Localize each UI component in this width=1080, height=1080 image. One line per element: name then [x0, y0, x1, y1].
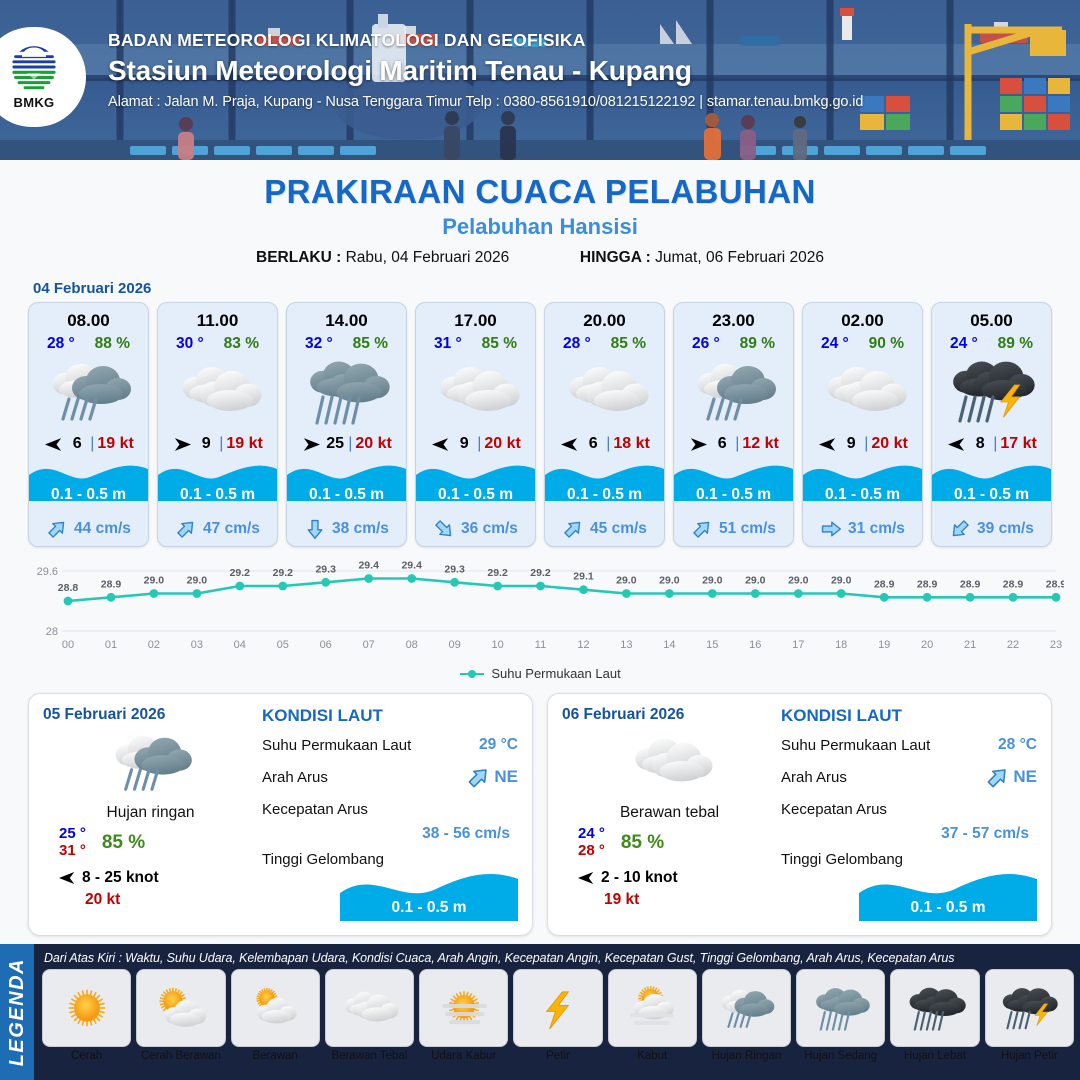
current-speed-value: 38 - 56 cm/s	[262, 825, 518, 843]
card-temperature: 28 °	[47, 335, 75, 353]
svg-text:15: 15	[706, 639, 718, 651]
legend-item-label: Berawan	[252, 1050, 297, 1062]
current-speed-label: Kecepatan Arus	[262, 801, 368, 818]
card-wind-separator: |	[477, 435, 481, 453]
card-humidity: 85 %	[611, 335, 646, 353]
page-header: BMKG BADAN METEOROLOGI KLIMATOLOGI DAN G…	[0, 0, 1080, 160]
card-wave: 0.1 - 0.5 m	[416, 459, 535, 511]
svg-text:28: 28	[46, 626, 58, 638]
svg-text:29.0: 29.0	[659, 575, 680, 587]
legend-item: Udara Kabur	[419, 969, 508, 1062]
sea-sst-row: Suhu Permukaan Laut 29 °C	[262, 729, 518, 761]
card-time: 14.00	[287, 303, 406, 331]
daily-temp-max: 31 °	[59, 843, 86, 860]
legend-item-label: Berawan Tebal	[331, 1050, 407, 1062]
daily-temp-min: 25 °	[59, 826, 86, 843]
svg-text:09: 09	[448, 639, 460, 651]
card-current-speed: 38 cm/s	[332, 520, 389, 538]
sea-sst-row: Suhu Permukaan Laut 28 °C	[781, 729, 1037, 761]
card-temperature: 31 °	[434, 335, 462, 353]
sst-label: Suhu Permukaan Laut	[262, 737, 411, 754]
card-humidity: 89 %	[998, 335, 1033, 353]
wind-direction-arrow	[817, 436, 838, 453]
daily-condition: Hujan ringan	[107, 804, 195, 822]
card-current: 36 cm/s	[416, 511, 535, 546]
hourly-forecast-row: 08.00 28 ° 88 % 6 | 19 kt 0.1	[0, 302, 1080, 547]
svg-text:21: 21	[964, 639, 976, 651]
hourly-forecast-card: 17.00 31 ° 85 % 9 | 20 kt 0.1	[415, 302, 536, 547]
card-wind-speed: 9	[196, 435, 216, 453]
svg-text:14: 14	[663, 639, 675, 651]
current-direction-arrow	[46, 518, 68, 540]
wind-direction-arrow	[172, 436, 193, 453]
legend-icon-hujan-petir	[985, 969, 1074, 1047]
hourly-forecast-card: 23.00 26 ° 89 % 6 | 12 kt 0.1	[673, 302, 794, 547]
legend-item: Kabut	[608, 969, 697, 1062]
current-direction-arrow	[466, 765, 491, 790]
daily-forecast-panel: 06 Februari 2026 Berawan tebal 24 ° 28 °…	[547, 693, 1052, 936]
svg-text:29.0: 29.0	[187, 575, 208, 587]
current-speed-value: 37 - 57 cm/s	[781, 825, 1037, 843]
svg-text:29.0: 29.0	[831, 575, 852, 587]
svg-text:02: 02	[148, 639, 160, 651]
wind-direction-arrow	[430, 436, 451, 453]
card-wind-separator: |	[90, 435, 94, 453]
svg-text:04: 04	[234, 639, 246, 651]
wind-direction-arrow	[301, 436, 322, 453]
svg-text:03: 03	[191, 639, 203, 651]
current-direction-arrow	[562, 518, 584, 540]
legend-icon-udara-kabur	[419, 969, 508, 1047]
current-direction-arrow	[433, 518, 455, 540]
legend-item: Hujan Petir	[985, 969, 1074, 1062]
svg-text:29.4: 29.4	[358, 560, 379, 572]
sea-current-direction-row: Arah Arus NE	[262, 761, 518, 793]
card-wave-height: 0.1 - 0.5 m	[545, 486, 664, 504]
daily-forecast-panel: 05 Februari 2026 Hujan ringan 25 ° 31 ° …	[28, 693, 533, 936]
svg-text:28.9: 28.9	[917, 578, 938, 590]
svg-text:28.9: 28.9	[1046, 578, 1064, 590]
hourly-forecast-card: 11.00 30 ° 83 % 9 | 19 kt 0.1	[157, 302, 278, 547]
sea-current-speed-row: Kecepatan Arus	[262, 793, 518, 825]
svg-text:29.6: 29.6	[37, 566, 58, 578]
svg-text:29.3: 29.3	[315, 563, 336, 575]
hourly-forecast-card: 02.00 24 ° 90 % 9 | 20 kt 0.1	[802, 302, 923, 547]
weather-icon-berawan-tebal	[416, 353, 535, 429]
card-temp-humidity: 24 ° 90 %	[803, 331, 922, 353]
legend-bar: LEGENDA Dari Atas Kiri : Waktu, Suhu Uda…	[0, 944, 1080, 1080]
daily-date: 06 Februari 2026	[562, 706, 684, 724]
bmkg-logo-text: BMKG	[14, 95, 55, 110]
card-wave-height: 0.1 - 0.5 m	[803, 486, 922, 504]
card-temp-humidity: 28 ° 88 %	[29, 331, 148, 353]
card-wave-height: 0.1 - 0.5 m	[674, 486, 793, 504]
card-gust: 20 kt	[355, 435, 391, 453]
valid-from-label: BERLAKU :	[256, 249, 341, 266]
svg-text:18: 18	[835, 639, 847, 651]
card-wave: 0.1 - 0.5 m	[545, 459, 664, 511]
legend-item: Cerah Berawan	[136, 969, 225, 1062]
validity-period: BERLAKU : Rabu, 04 Februari 2026 HINGGA …	[0, 249, 1080, 267]
card-wind-separator: |	[864, 435, 868, 453]
sst-chart: 29.62828.80028.90129.00229.00329.20429.2…	[16, 559, 1064, 664]
weather-icon-hujan-ringan	[29, 353, 148, 429]
card-wind-speed: 6	[67, 435, 87, 453]
svg-text:29.0: 29.0	[788, 575, 809, 587]
current-direction-label: Arah Arus	[781, 769, 847, 786]
card-wind: 6 | 18 kt	[545, 429, 664, 459]
hourly-forecast-card: 05.00 24 ° 89 % 8 | 17 kt 0.1	[931, 302, 1052, 547]
legend-items: Cerah Cerah Berawan Berawan Berawan Teba…	[42, 969, 1074, 1062]
card-current: 38 cm/s	[287, 511, 406, 546]
legend-item: Hujan Ringan	[702, 969, 791, 1062]
current-direction-arrow	[304, 518, 326, 540]
daily-gust: 20 kt	[43, 891, 120, 909]
card-wave: 0.1 - 0.5 m	[158, 459, 277, 511]
card-gust: 20 kt	[484, 435, 520, 453]
daily-summary: 06 Februari 2026 Berawan tebal 24 ° 28 °…	[562, 706, 777, 925]
card-time: 11.00	[158, 303, 277, 331]
card-wave-height: 0.1 - 0.5 m	[416, 486, 535, 504]
current-direction-label: Arah Arus	[262, 769, 328, 786]
svg-text:01: 01	[105, 639, 117, 651]
current-speed-label: Kecepatan Arus	[781, 801, 887, 818]
svg-text:06: 06	[320, 639, 332, 651]
card-humidity: 88 %	[95, 335, 130, 353]
valid-from-value: Rabu, 04 Februari 2026	[346, 249, 510, 266]
sst-value: 29 °C	[479, 736, 518, 754]
legend-item-label: Hujan Ringan	[712, 1050, 782, 1062]
sea-current-direction-row: Arah Arus NE	[781, 761, 1037, 793]
wave-height-label: Tinggi Gelombang	[262, 851, 384, 868]
card-temperature: 28 °	[563, 335, 591, 353]
legend-icon-berawan	[231, 969, 320, 1047]
svg-text:28.8: 28.8	[58, 582, 79, 594]
card-current: 51 cm/s	[674, 511, 793, 546]
svg-text:20: 20	[921, 639, 933, 651]
sea-conditions: KONDISI LAUT Suhu Permukaan Laut 29 °C A…	[258, 706, 518, 925]
card-wind-speed: 9	[454, 435, 474, 453]
card-time: 05.00	[932, 303, 1051, 331]
card-wind: 25 | 20 kt	[287, 429, 406, 459]
current-direction-arrow	[691, 518, 713, 540]
card-wave-height: 0.1 - 0.5 m	[29, 486, 148, 504]
legend-icon-hujan-ringan	[702, 969, 791, 1047]
svg-text:13: 13	[620, 639, 632, 651]
card-gust: 19 kt	[97, 435, 133, 453]
card-current: 47 cm/s	[158, 511, 277, 546]
legend-item-label: Kabut	[637, 1050, 667, 1062]
daily-wave-height: 0.1 - 0.5 m	[859, 899, 1037, 917]
card-wind-speed: 6	[712, 435, 732, 453]
legend-item: Berawan Tebal	[325, 969, 414, 1062]
card-wave: 0.1 - 0.5 m	[287, 459, 406, 511]
daily-temp-min: 24 °	[578, 826, 605, 843]
card-humidity: 85 %	[482, 335, 517, 353]
weather-icon-berawan-tebal	[622, 726, 718, 798]
card-temperature: 30 °	[176, 335, 204, 353]
legend-icon-hujan-sedang	[796, 969, 885, 1047]
bmkg-logo-mark	[8, 44, 60, 94]
legend-item: Cerah	[42, 969, 131, 1062]
sea-conditions: KONDISI LAUT Suhu Permukaan Laut 28 °C A…	[777, 706, 1037, 925]
daily-wind: 8 - 25 knot	[43, 869, 159, 887]
card-wave-height: 0.1 - 0.5 m	[932, 486, 1051, 504]
card-current: 45 cm/s	[545, 511, 664, 546]
legend-item: Petir	[513, 969, 602, 1062]
current-direction-arrow	[175, 518, 197, 540]
daily-wind-range: 8 - 25 knot	[82, 869, 159, 887]
card-humidity: 89 %	[740, 335, 775, 353]
svg-text:10: 10	[491, 639, 503, 651]
card-humidity: 83 %	[224, 335, 259, 353]
hourly-forecast-card: 08.00 28 ° 88 % 6 | 19 kt 0.1	[28, 302, 149, 547]
svg-text:29.3: 29.3	[444, 563, 465, 575]
weather-icon-hujan-ringan	[103, 726, 199, 798]
legend-icon-hujan-lebat	[890, 969, 979, 1047]
current-direction-value: NE	[466, 765, 518, 790]
daily-wave-graphic: 0.1 - 0.5 m	[262, 869, 518, 925]
card-temp-humidity: 28 ° 85 %	[545, 331, 664, 353]
svg-text:29.1: 29.1	[573, 571, 594, 583]
wind-direction-arrow	[43, 436, 64, 453]
valid-until-value: Jumat, 06 Februari 2026	[655, 249, 824, 266]
card-temp-humidity: 26 ° 89 %	[674, 331, 793, 353]
weather-icon-berawan-tebal	[545, 353, 664, 429]
card-temperature: 32 °	[305, 335, 333, 353]
svg-text:29.0: 29.0	[745, 575, 766, 587]
legend-icon-petir	[513, 969, 602, 1047]
svg-text:29.2: 29.2	[487, 567, 508, 579]
legend-item-label: Cerah	[71, 1050, 102, 1062]
legend-icon-berawan-tebal	[325, 969, 414, 1047]
svg-text:16: 16	[749, 639, 761, 651]
weather-icon-berawan-tebal	[158, 353, 277, 429]
card-wind-speed: 6	[583, 435, 603, 453]
wind-direction-arrow	[946, 436, 967, 453]
card-wave: 0.1 - 0.5 m	[674, 459, 793, 511]
svg-text:29.2: 29.2	[530, 567, 551, 579]
svg-text:28.9: 28.9	[1003, 578, 1024, 590]
card-temp-humidity: 24 ° 89 %	[932, 331, 1051, 353]
sst-value: 28 °C	[998, 736, 1037, 754]
svg-text:00: 00	[62, 639, 74, 651]
card-temperature: 26 °	[692, 335, 720, 353]
card-wind-speed: 25	[325, 435, 345, 453]
legend-item-label: Udara Kabur	[431, 1050, 496, 1062]
legend-item: Hujan Sedang	[796, 969, 885, 1062]
legend-icon-cerah-berawan	[136, 969, 225, 1047]
legend-item-label: Hujan Lebat	[904, 1050, 966, 1062]
station-address: Alamat : Jalan M. Praja, Kupang - Nusa T…	[108, 94, 863, 110]
daily-temp-max: 28 °	[578, 843, 605, 860]
daily-wave-graphic: 0.1 - 0.5 m	[781, 869, 1037, 925]
card-wind: 6 | 12 kt	[674, 429, 793, 459]
card-wind-speed: 8	[970, 435, 990, 453]
card-current: 39 cm/s	[932, 511, 1051, 546]
svg-text:29.0: 29.0	[144, 575, 165, 587]
svg-text:29.0: 29.0	[702, 575, 723, 587]
daily-wave-height: 0.1 - 0.5 m	[340, 899, 518, 917]
svg-text:19: 19	[878, 639, 890, 651]
card-temp-humidity: 30 ° 83 %	[158, 331, 277, 353]
card-wind: 6 | 19 kt	[29, 429, 148, 459]
daily-condition: Berawan tebal	[620, 804, 719, 822]
card-current-speed: 45 cm/s	[590, 520, 647, 538]
card-time: 20.00	[545, 303, 664, 331]
card-current-speed: 51 cm/s	[719, 520, 776, 538]
card-wave-height: 0.1 - 0.5 m	[158, 486, 277, 504]
legend-icon-kabut	[608, 969, 697, 1047]
daily-wind-range: 2 - 10 knot	[601, 869, 678, 887]
organization-name: BADAN METEOROLOGI KLIMATOLOGI DAN GEOFIS…	[108, 30, 863, 51]
sst-chart-svg: 29.62828.80028.90129.00229.00329.20429.2…	[16, 559, 1064, 664]
current-direction-arrow	[949, 518, 971, 540]
chart-legend: Suhu Permukaan Laut	[0, 666, 1080, 681]
station-name: Stasiun Meteorologi Maritim Tenau - Kupa…	[108, 55, 863, 87]
legend-item-label: Hujan Sedang	[804, 1050, 877, 1062]
weather-icon-hujan-petir	[932, 353, 1051, 429]
card-wind-separator: |	[735, 435, 739, 453]
card-current-speed: 31 cm/s	[848, 520, 905, 538]
sea-current-speed-row: Kecepatan Arus	[781, 793, 1037, 825]
card-wind-speed: 9	[841, 435, 861, 453]
card-humidity: 90 %	[869, 335, 904, 353]
svg-text:29.0: 29.0	[616, 575, 637, 587]
card-wind: 9 | 19 kt	[158, 429, 277, 459]
legend-item: Berawan	[231, 969, 320, 1062]
svg-text:22: 22	[1007, 639, 1019, 651]
legend-item-label: Cerah Berawan	[141, 1050, 221, 1062]
card-gust: 19 kt	[226, 435, 262, 453]
legend-item: Hujan Lebat	[890, 969, 979, 1062]
wind-direction-arrow	[57, 870, 77, 886]
current-direction-text: NE	[494, 767, 518, 787]
current-direction-arrow	[820, 518, 842, 540]
daily-temp-humidity: 25 ° 31 ° 85 %	[43, 826, 145, 860]
card-time: 02.00	[803, 303, 922, 331]
daily-temp-humidity: 24 ° 28 ° 85 %	[562, 826, 664, 860]
card-time: 23.00	[674, 303, 793, 331]
svg-text:23: 23	[1050, 639, 1062, 651]
sea-conditions-title: KONDISI LAUT	[781, 706, 1037, 726]
card-current: 44 cm/s	[29, 511, 148, 546]
card-wave: 0.1 - 0.5 m	[932, 459, 1051, 511]
card-wind: 9 | 20 kt	[803, 429, 922, 459]
svg-text:05: 05	[277, 639, 289, 651]
card-temperature: 24 °	[950, 335, 978, 353]
svg-text:11: 11	[535, 639, 546, 651]
card-current-speed: 47 cm/s	[203, 520, 260, 538]
weather-icon-hujan-sedang	[287, 353, 406, 429]
card-current-speed: 39 cm/s	[977, 520, 1034, 538]
card-gust: 12 kt	[742, 435, 778, 453]
card-gust: 17 kt	[1000, 435, 1036, 453]
card-wave: 0.1 - 0.5 m	[803, 459, 922, 511]
chart-legend-label: Suhu Permukaan Laut	[491, 666, 620, 681]
svg-text:17: 17	[792, 639, 804, 651]
wind-direction-arrow	[688, 436, 709, 453]
card-wind-separator: |	[606, 435, 610, 453]
card-gust: 20 kt	[871, 435, 907, 453]
card-temp-humidity: 31 ° 85 %	[416, 331, 535, 353]
svg-text:29.4: 29.4	[401, 560, 422, 572]
card-wave-height: 0.1 - 0.5 m	[287, 486, 406, 504]
card-current-speed: 44 cm/s	[74, 520, 131, 538]
svg-text:28.9: 28.9	[101, 578, 122, 590]
card-current-speed: 36 cm/s	[461, 520, 518, 538]
legend-item-label: Petir	[546, 1050, 570, 1062]
svg-text:07: 07	[363, 639, 375, 651]
svg-text:29.2: 29.2	[273, 567, 294, 579]
svg-text:28.9: 28.9	[874, 578, 895, 590]
legend-line-marker	[459, 669, 485, 679]
legend-note: Dari Atas Kiri : Waktu, Suhu Udara, Kele…	[42, 948, 1074, 969]
card-time: 17.00	[416, 303, 535, 331]
card-wind-separator: |	[348, 435, 352, 453]
daily-wind: 2 - 10 knot	[562, 869, 678, 887]
card-wind: 9 | 20 kt	[416, 429, 535, 459]
daily-summary: 05 Februari 2026 Hujan ringan 25 ° 31 ° …	[43, 706, 258, 925]
card-wind: 8 | 17 kt	[932, 429, 1051, 459]
daily-gust: 19 kt	[562, 891, 639, 909]
svg-text:12: 12	[577, 639, 589, 651]
svg-text:08: 08	[406, 639, 418, 651]
weather-icon-hujan-ringan	[674, 353, 793, 429]
legend-icon-cerah	[42, 969, 131, 1047]
card-temperature: 24 °	[821, 335, 849, 353]
wind-direction-arrow	[559, 436, 580, 453]
daily-forecast-row: 05 Februari 2026 Hujan ringan 25 ° 31 ° …	[0, 681, 1080, 936]
svg-text:28.9: 28.9	[960, 578, 981, 590]
hourly-forecast-card: 20.00 28 ° 85 % 6 | 18 kt 0.1	[544, 302, 665, 547]
wind-direction-arrow	[576, 870, 596, 886]
card-humidity: 85 %	[353, 335, 388, 353]
daily-humidity: 85 %	[621, 832, 664, 854]
valid-until-label: HINGGA :	[580, 249, 651, 266]
card-wind-separator: |	[993, 435, 997, 453]
current-direction-arrow	[985, 765, 1010, 790]
sea-conditions-title: KONDISI LAUT	[262, 706, 518, 726]
title-block: PRAKIRAAN CUACA PELABUHAN Pelabuhan Hans…	[0, 160, 1080, 267]
card-temp-humidity: 32 ° 85 %	[287, 331, 406, 353]
card-time: 08.00	[29, 303, 148, 331]
svg-text:29.2: 29.2	[230, 567, 251, 579]
page-subtitle: Pelabuhan Hansisi	[0, 214, 1080, 240]
hourly-forecast-card: 14.00 32 ° 85 % 25 | 20 kt 0.	[286, 302, 407, 547]
legend-tab-label: LEGENDA	[6, 958, 29, 1066]
current-direction-value: NE	[985, 765, 1037, 790]
daily-humidity: 85 %	[102, 832, 145, 854]
daily-date: 05 Februari 2026	[43, 706, 165, 724]
sst-label: Suhu Permukaan Laut	[781, 737, 930, 754]
weather-icon-berawan-tebal	[803, 353, 922, 429]
current-direction-text: NE	[1013, 767, 1037, 787]
card-current: 31 cm/s	[803, 511, 922, 546]
legend-item-label: Hujan Petir	[1001, 1050, 1058, 1062]
card-gust: 18 kt	[613, 435, 649, 453]
card-wave: 0.1 - 0.5 m	[29, 459, 148, 511]
wave-height-label: Tinggi Gelombang	[781, 851, 903, 868]
card-wind-separator: |	[219, 435, 223, 453]
page-title: PRAKIRAAN CUACA PELABUHAN	[0, 173, 1080, 211]
legend-tab: LEGENDA	[0, 944, 34, 1080]
hourly-date-label: 04 Februari 2026	[33, 280, 1080, 297]
